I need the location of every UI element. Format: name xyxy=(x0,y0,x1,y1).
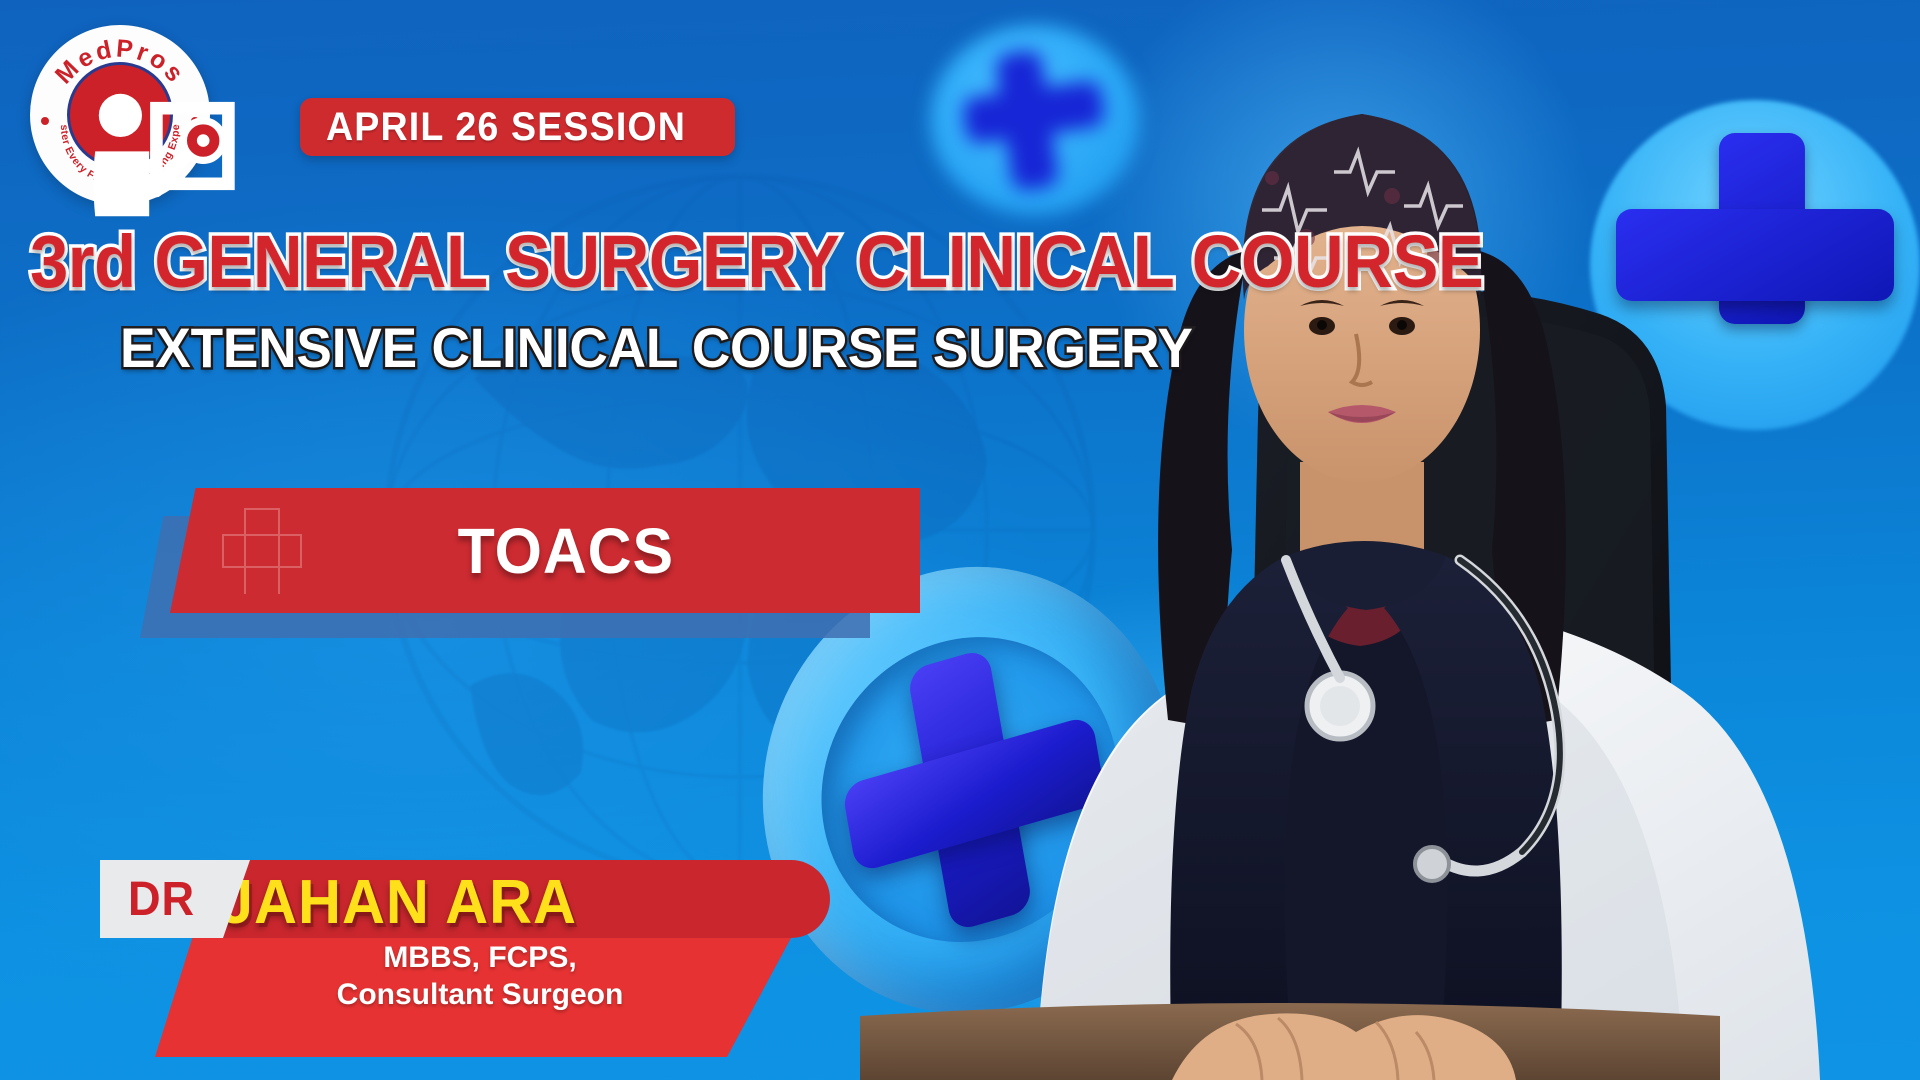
medpros-logo: MedPros Master Every Field with Leading … xyxy=(30,25,210,205)
medical-cross-outline-icon xyxy=(222,508,302,594)
presenter-credentials-line-1: MBBS, FCPS, xyxy=(155,940,805,977)
logo-inner-disc xyxy=(67,62,173,168)
presenter-banner: MBBS, FCPS, Consultant Surgeon JAHAN ARA… xyxy=(100,860,900,1060)
course-promo-poster: MedPros Master Every Field with Leading … xyxy=(0,0,1920,1080)
presenter-credentials-line-2: Consultant Surgeon xyxy=(155,977,805,1014)
session-date-badge: APRIL 26 SESSION xyxy=(300,98,735,156)
course-subtitle: EXTENSIVE CLINICAL COURSE SURGERY xyxy=(120,320,1070,376)
session-date-label: APRIL 26 SESSION xyxy=(326,107,686,147)
topic-label: TOACS xyxy=(458,514,674,588)
topic-banner-bar: TOACS xyxy=(170,488,920,613)
presenter-title-label: DR xyxy=(128,872,195,927)
background-glow-bottom xyxy=(880,580,1440,1080)
presenter-board-icon xyxy=(70,65,250,245)
medical-cross-3d-icon xyxy=(1590,100,1920,430)
female-surgeon-photo xyxy=(800,0,1920,1080)
medical-cross-blurred-icon xyxy=(930,25,1140,215)
course-title: 3rd GENERAL SURGERY CLINICAL COURSE xyxy=(30,225,1053,299)
presenter-name: JAHAN ARA xyxy=(220,863,577,941)
topic-banner: TOACS xyxy=(140,488,920,648)
